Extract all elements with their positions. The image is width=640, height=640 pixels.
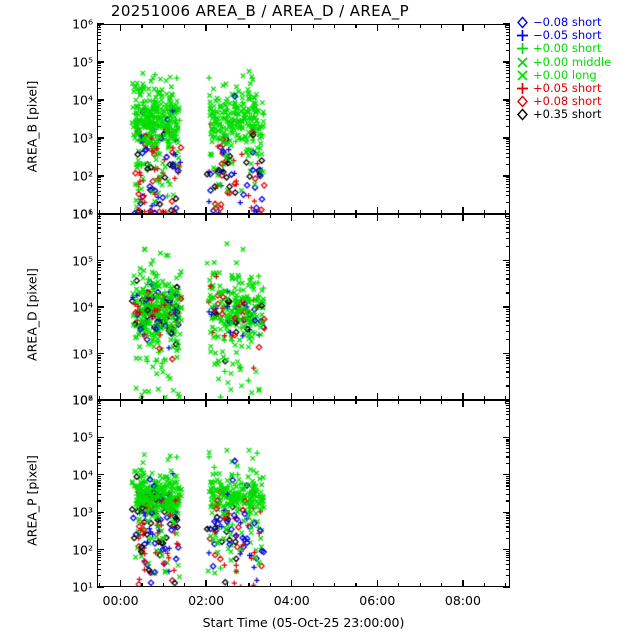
y-minor-tick <box>506 317 510 318</box>
y-minor-tick <box>506 115 510 116</box>
x-minor-tick <box>334 400 335 404</box>
y-minor-tick <box>506 164 510 165</box>
y-minor-tick <box>506 157 510 158</box>
y-minor-tick <box>97 331 101 332</box>
y-major-tick <box>97 549 104 550</box>
y-minor-tick <box>97 105 101 106</box>
y-minor-tick <box>506 385 510 386</box>
y-minor-tick <box>97 29 101 30</box>
y-minor-tick <box>506 526 510 527</box>
x-minor-tick <box>398 24 399 28</box>
y-minor-tick <box>506 408 510 409</box>
y-minor-tick <box>97 73 101 74</box>
y-minor-tick <box>97 489 101 490</box>
y-minor-tick <box>506 426 510 427</box>
y-minor-tick <box>97 195 101 196</box>
y-tick-label: 10² <box>42 169 93 184</box>
y-minor-tick <box>97 126 101 127</box>
y-minor-tick <box>97 181 101 182</box>
y-minor-tick <box>97 232 101 233</box>
y-major-tick <box>97 260 104 261</box>
y-minor-tick <box>506 405 510 406</box>
x-tick-label: 02:00 <box>188 593 224 608</box>
x-minor-tick <box>420 214 421 218</box>
y-minor-tick <box>506 267 510 268</box>
y-minor-tick <box>97 448 101 449</box>
y-tick-label: 10⁵ <box>42 430 93 445</box>
y-tick-label: 10⁴ <box>42 467 93 482</box>
y-minor-tick <box>506 500 510 501</box>
y-major-tick <box>503 23 510 24</box>
y-minor-tick <box>97 439 101 440</box>
x-tick-label: 00:00 <box>103 593 139 608</box>
x-minor-tick <box>334 583 335 587</box>
y-minor-tick <box>506 81 510 82</box>
y-minor-tick <box>506 309 510 310</box>
y-minor-tick <box>97 264 101 265</box>
y-minor-tick <box>97 456 101 457</box>
y-minor-tick <box>506 221 510 222</box>
y-minor-tick <box>97 141 101 142</box>
y-minor-tick <box>97 551 101 552</box>
panel-area-p-scatter <box>98 401 510 587</box>
y-minor-tick <box>506 105 510 106</box>
y-minor-tick <box>506 63 510 64</box>
y-tick-label: 10⁵ <box>42 55 93 70</box>
x-minor-tick <box>313 24 314 28</box>
y-tick-label: 10⁶ <box>42 207 93 222</box>
y-minor-tick <box>506 43 510 44</box>
y-minor-tick <box>97 371 101 372</box>
y-major-tick <box>503 437 510 438</box>
y-minor-tick <box>97 262 101 263</box>
y-minor-tick <box>97 119 101 120</box>
legend-item[interactable]: +0.00 middle <box>516 56 640 69</box>
y-tick-label: 10³ <box>42 131 93 146</box>
x-minor-tick <box>270 214 271 218</box>
x-minor-tick <box>441 400 442 404</box>
y-minor-tick <box>97 101 101 102</box>
y-minor-tick <box>506 363 510 364</box>
y-minor-tick <box>97 108 101 109</box>
y-minor-tick <box>97 32 101 33</box>
y-minor-tick <box>97 485 101 486</box>
x-minor-tick <box>441 583 442 587</box>
x-major-tick <box>120 400 121 407</box>
y-minor-tick <box>97 377 101 378</box>
y-minor-tick <box>506 77 510 78</box>
y-minor-tick <box>506 146 510 147</box>
x-major-tick <box>120 24 121 31</box>
y-minor-tick <box>97 320 101 321</box>
x-minor-tick <box>355 583 356 587</box>
y-minor-tick <box>97 238 101 239</box>
y-minor-tick <box>506 531 510 532</box>
x-major-tick <box>377 393 378 400</box>
x-major-tick <box>291 24 292 31</box>
x-major-tick <box>205 214 206 221</box>
y-minor-tick <box>506 139 510 140</box>
y-minor-tick <box>506 88 510 89</box>
y-minor-tick <box>506 557 510 558</box>
y-minor-tick <box>506 101 510 102</box>
x-minor-tick <box>484 214 485 218</box>
y-minor-tick <box>506 520 510 521</box>
x-minor-tick <box>270 400 271 404</box>
y-minor-tick <box>97 513 101 514</box>
y-minor-tick <box>506 440 510 441</box>
y-minor-tick <box>506 371 510 372</box>
panel-area-p <box>97 400 510 587</box>
panelB-ylabel: AREA_B [pixel] <box>25 27 40 227</box>
y-minor-tick <box>97 77 101 78</box>
panel-area-d <box>97 214 510 400</box>
y-minor-tick <box>506 262 510 263</box>
y-minor-tick <box>506 367 510 368</box>
y-minor-tick <box>97 538 101 539</box>
panelP-ylabel: AREA_P [pixel] <box>25 401 40 601</box>
plus-marker-icon <box>516 82 531 95</box>
y-minor-tick <box>506 153 510 154</box>
x-major-tick <box>462 580 463 587</box>
legend-item[interactable]: +0.00 short <box>516 42 640 55</box>
y-minor-tick <box>97 221 101 222</box>
x-minor-tick <box>163 583 164 587</box>
y-minor-tick <box>506 126 510 127</box>
x-major-tick <box>205 24 206 31</box>
y-minor-tick <box>506 65 510 66</box>
y-minor-tick <box>506 195 510 196</box>
y-minor-tick <box>97 81 101 82</box>
y-minor-tick <box>97 35 101 36</box>
legend-label: +0.00 short <box>531 42 601 55</box>
x-major-tick <box>205 207 206 214</box>
y-minor-tick <box>506 181 510 182</box>
y-minor-tick <box>506 564 510 565</box>
y-minor-tick <box>506 232 510 233</box>
x-minor-tick <box>505 400 506 404</box>
y-minor-tick <box>506 463 510 464</box>
y-minor-tick <box>97 314 101 315</box>
y-major-tick <box>97 353 104 354</box>
y-minor-tick <box>506 29 510 30</box>
y-minor-tick <box>506 331 510 332</box>
x-minor-tick <box>141 24 142 28</box>
x-minor-tick <box>99 583 100 587</box>
y-minor-tick <box>97 408 101 409</box>
y-minor-tick <box>97 411 101 412</box>
y-minor-tick <box>506 523 510 524</box>
x-minor-tick <box>270 583 271 587</box>
y-major-tick <box>503 61 510 62</box>
x-minor-tick <box>227 214 228 218</box>
x-minor-tick <box>248 400 249 404</box>
y-minor-tick <box>506 202 510 203</box>
y-minor-tick <box>97 218 101 219</box>
x-minor-tick <box>248 24 249 28</box>
y-minor-tick <box>506 357 510 358</box>
cross-marker-icon <box>516 56 531 69</box>
x-minor-tick <box>334 24 335 28</box>
y-minor-tick <box>506 411 510 412</box>
x-minor-tick <box>163 400 164 404</box>
y-tick-label: 10² <box>42 542 93 557</box>
y-minor-tick <box>97 292 101 293</box>
y-minor-tick <box>97 224 101 225</box>
y-major-tick <box>97 175 104 176</box>
x-minor-tick <box>484 24 485 28</box>
cross-marker-icon <box>516 69 531 82</box>
y-minor-tick <box>97 419 101 420</box>
x-major-tick <box>377 400 378 407</box>
x-minor-tick <box>420 24 421 28</box>
x-minor-tick <box>313 400 314 404</box>
y-minor-tick <box>506 224 510 225</box>
x-major-tick <box>462 393 463 400</box>
y-minor-tick <box>506 456 510 457</box>
y-minor-tick <box>506 119 510 120</box>
y-minor-tick <box>97 575 101 576</box>
y-minor-tick <box>97 149 101 150</box>
y-major-tick <box>503 306 510 307</box>
x-major-tick <box>462 24 463 31</box>
x-minor-tick <box>505 583 506 587</box>
plus-marker-icon <box>516 42 531 55</box>
x-minor-tick <box>184 400 185 404</box>
y-minor-tick <box>97 274 101 275</box>
y-minor-tick <box>97 115 101 116</box>
diamond-marker-icon <box>516 95 531 108</box>
x-major-tick <box>291 207 292 214</box>
panel-area-d-scatter <box>98 215 510 400</box>
y-minor-tick <box>97 500 101 501</box>
plot-figure: 20251006 AREA_B / AREA_D / AREA_P AREA_B… <box>0 0 640 640</box>
x-major-tick <box>462 214 463 221</box>
y-minor-tick <box>506 179 510 180</box>
y-minor-tick <box>506 246 510 247</box>
x-minor-tick <box>398 583 399 587</box>
x-minor-tick <box>355 400 356 404</box>
y-minor-tick <box>97 191 101 192</box>
y-minor-tick <box>506 320 510 321</box>
y-minor-tick <box>506 39 510 40</box>
y-tick-label: 10⁴ <box>42 93 93 108</box>
y-minor-tick <box>97 560 101 561</box>
y-minor-tick <box>506 35 510 36</box>
y-minor-tick <box>97 70 101 71</box>
x-major-tick <box>291 400 292 407</box>
y-minor-tick <box>506 439 510 440</box>
x-minor-tick <box>163 214 164 218</box>
y-minor-tick <box>506 517 510 518</box>
panel-area-b <box>97 24 510 214</box>
y-minor-tick <box>97 187 101 188</box>
y-minor-tick <box>97 480 101 481</box>
x-minor-tick <box>420 583 421 587</box>
y-minor-tick <box>97 553 101 554</box>
y-minor-tick <box>97 339 101 340</box>
y-minor-tick <box>97 363 101 364</box>
x-minor-tick <box>505 24 506 28</box>
y-minor-tick <box>97 526 101 527</box>
x-minor-tick <box>248 214 249 218</box>
y-major-tick <box>97 512 104 513</box>
y-minor-tick <box>97 357 101 358</box>
y-minor-tick <box>97 278 101 279</box>
y-minor-tick <box>506 284 510 285</box>
y-minor-tick <box>506 32 510 33</box>
x-minor-tick <box>184 24 185 28</box>
plus-marker-icon <box>516 29 531 42</box>
y-minor-tick <box>97 177 101 178</box>
x-minor-tick <box>313 214 314 218</box>
y-minor-tick <box>97 103 101 104</box>
y-minor-tick <box>506 25 510 26</box>
legend-item[interactable]: +0.35 short <box>516 108 640 121</box>
legend-item[interactable]: +0.00 long <box>516 69 640 82</box>
y-minor-tick <box>506 216 510 217</box>
x-major-tick <box>291 393 292 400</box>
x-minor-tick <box>99 400 100 404</box>
y-minor-tick <box>506 445 510 446</box>
y-minor-tick <box>506 141 510 142</box>
x-major-tick <box>205 393 206 400</box>
x-axis-label: Start Time (05-Oct-25 23:00:00) <box>97 615 510 630</box>
y-minor-tick <box>506 443 510 444</box>
y-major-tick <box>503 549 510 550</box>
y-minor-tick <box>97 43 101 44</box>
y-minor-tick <box>97 39 101 40</box>
y-minor-tick <box>506 27 510 28</box>
y-minor-tick <box>506 218 510 219</box>
x-tick-label: 06:00 <box>359 593 395 608</box>
y-minor-tick <box>506 555 510 556</box>
y-minor-tick <box>506 177 510 178</box>
x-minor-tick <box>184 214 185 218</box>
y-minor-tick <box>506 325 510 326</box>
diamond-marker-icon <box>516 108 531 121</box>
y-major-tick <box>97 306 104 307</box>
y-minor-tick <box>97 184 101 185</box>
x-major-tick <box>120 580 121 587</box>
y-minor-tick <box>506 419 510 420</box>
x-minor-tick <box>355 24 356 28</box>
y-minor-tick <box>97 146 101 147</box>
y-major-tick <box>503 99 510 100</box>
y-minor-tick <box>506 478 510 479</box>
x-major-tick <box>377 207 378 214</box>
y-minor-tick <box>97 494 101 495</box>
y-minor-tick <box>97 520 101 521</box>
x-major-tick <box>120 207 121 214</box>
y-major-tick <box>97 61 104 62</box>
y-minor-tick <box>97 557 101 558</box>
y-minor-tick <box>506 50 510 51</box>
x-minor-tick <box>484 400 485 404</box>
x-minor-tick <box>141 400 142 404</box>
diamond-marker-icon <box>516 16 531 29</box>
x-minor-tick <box>420 400 421 404</box>
y-minor-tick <box>97 270 101 271</box>
y-minor-tick <box>97 445 101 446</box>
y-minor-tick <box>506 108 510 109</box>
x-minor-tick <box>441 24 442 28</box>
y-minor-tick <box>97 179 101 180</box>
y-minor-tick <box>97 515 101 516</box>
y-minor-tick <box>506 551 510 552</box>
x-minor-tick <box>505 214 506 218</box>
y-minor-tick <box>506 111 510 112</box>
y-minor-tick <box>506 553 510 554</box>
y-minor-tick <box>506 575 510 576</box>
y-minor-tick <box>97 325 101 326</box>
y-minor-tick <box>506 538 510 539</box>
x-minor-tick <box>248 583 249 587</box>
x-minor-tick <box>398 214 399 218</box>
x-minor-tick <box>184 583 185 587</box>
y-minor-tick <box>97 88 101 89</box>
y-minor-tick <box>97 317 101 318</box>
y-major-tick <box>503 399 510 400</box>
x-major-tick <box>120 214 121 221</box>
y-minor-tick <box>97 443 101 444</box>
y-minor-tick <box>506 377 510 378</box>
y-major-tick <box>503 175 510 176</box>
x-minor-tick <box>227 24 228 28</box>
x-minor-tick <box>441 214 442 218</box>
x-major-tick <box>462 400 463 407</box>
y-major-tick <box>503 213 510 214</box>
y-minor-tick <box>506 292 510 293</box>
y-minor-tick <box>506 149 510 150</box>
y-minor-tick <box>506 355 510 356</box>
y-minor-tick <box>506 73 510 74</box>
x-major-tick <box>377 580 378 587</box>
x-minor-tick <box>163 24 164 28</box>
y-minor-tick <box>506 278 510 279</box>
y-major-tick <box>503 586 510 587</box>
y-major-tick <box>503 137 510 138</box>
panel-area-b-scatter <box>98 25 510 214</box>
x-minor-tick <box>270 24 271 28</box>
y-minor-tick <box>506 403 510 404</box>
y-minor-tick <box>97 139 101 140</box>
y-tick-label: 10³ <box>42 505 93 520</box>
y-tick-label: 10⁶ <box>42 17 93 32</box>
x-major-tick <box>377 24 378 31</box>
x-minor-tick <box>99 24 100 28</box>
x-major-tick <box>291 214 292 221</box>
y-minor-tick <box>97 63 101 64</box>
y-minor-tick <box>97 476 101 477</box>
y-minor-tick <box>506 339 510 340</box>
y-major-tick <box>97 474 104 475</box>
x-major-tick <box>205 580 206 587</box>
y-minor-tick <box>506 480 510 481</box>
x-minor-tick <box>313 583 314 587</box>
x-major-tick <box>377 214 378 221</box>
y-minor-tick <box>506 143 510 144</box>
y-minor-tick <box>506 67 510 68</box>
panelD-ylabel: AREA_D [pixel] <box>25 215 40 415</box>
y-major-tick <box>97 437 104 438</box>
y-minor-tick <box>97 523 101 524</box>
y-minor-tick <box>97 517 101 518</box>
y-minor-tick <box>506 264 510 265</box>
x-minor-tick <box>141 214 142 218</box>
y-minor-tick <box>506 311 510 312</box>
y-minor-tick <box>97 267 101 268</box>
